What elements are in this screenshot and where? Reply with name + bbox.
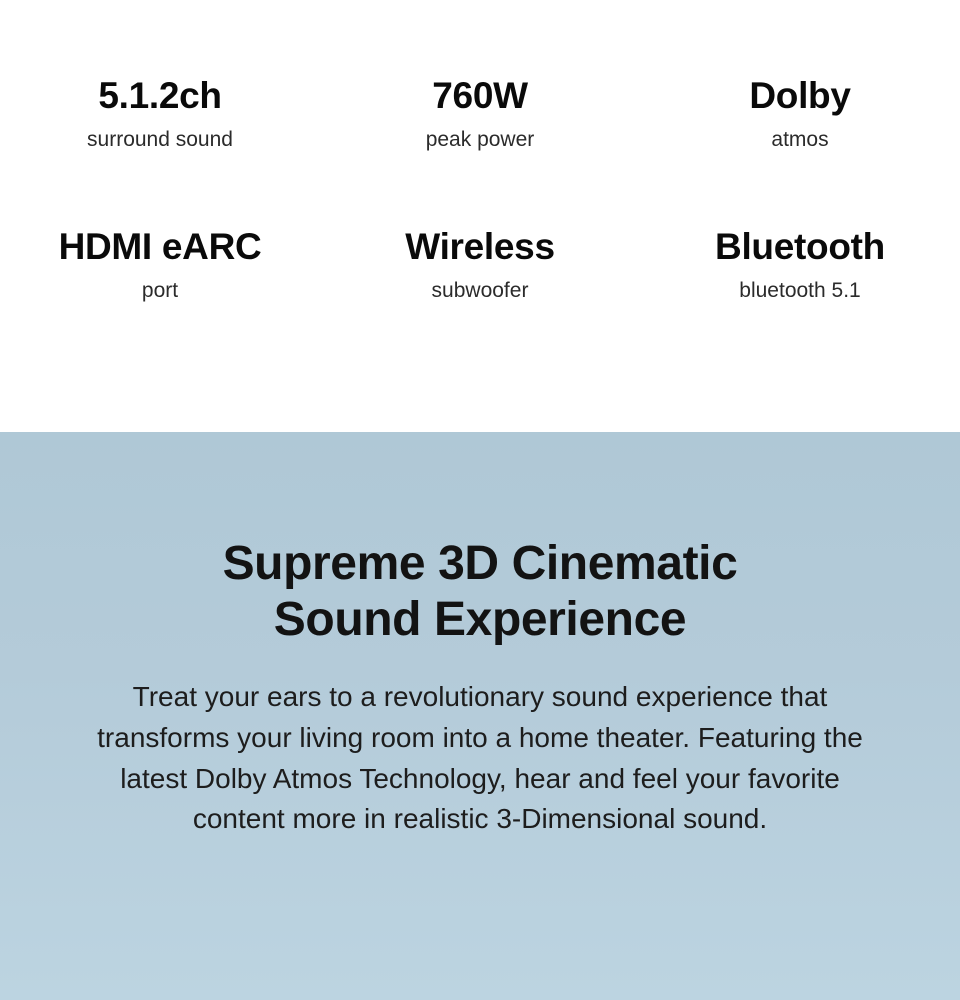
- specs-row-1: 5.1.2ch surround sound 760W peak power D…: [0, 74, 960, 152]
- spec-value: Wireless: [324, 225, 636, 269]
- product-feature-page: 5.1.2ch surround sound 760W peak power D…: [0, 0, 960, 1000]
- spec-value: 760W: [324, 74, 636, 118]
- spec-item-dolby-atmos: Dolby atmos: [640, 74, 960, 152]
- spec-label: bluetooth 5.1: [644, 278, 956, 303]
- spec-value: Dolby: [644, 74, 956, 118]
- spec-item-peak-power: 760W peak power: [320, 74, 640, 152]
- spec-item-hdmi-earc: HDMI eARC port: [0, 225, 320, 303]
- hero-title: Supreme 3D Cinematic Sound Experience: [95, 536, 865, 647]
- spec-value: HDMI eARC: [4, 225, 316, 269]
- spec-item-wireless-subwoofer: Wireless subwoofer: [320, 225, 640, 303]
- spec-item-bluetooth: Bluetooth bluetooth 5.1: [640, 225, 960, 303]
- hero-section: Supreme 3D Cinematic Sound Experience Tr…: [0, 432, 960, 1000]
- spec-label: atmos: [644, 127, 956, 152]
- spec-value: 5.1.2ch: [4, 74, 316, 118]
- hero-paragraph: Treat your ears to a revolutionary sound…: [80, 677, 880, 839]
- spec-label: peak power: [324, 127, 636, 152]
- hero-title-line-1: Supreme 3D Cinematic: [223, 537, 738, 590]
- spec-item-surround-sound: 5.1.2ch surround sound: [0, 74, 320, 152]
- spec-label: subwoofer: [324, 278, 636, 303]
- spec-label: surround sound: [4, 127, 316, 152]
- specs-section: 5.1.2ch surround sound 760W peak power D…: [0, 0, 960, 432]
- spec-value: Bluetooth: [644, 225, 956, 269]
- specs-row-2: HDMI eARC port Wireless subwoofer Blueto…: [0, 225, 960, 303]
- spec-label: port: [4, 278, 316, 303]
- hero-title-line-2: Sound Experience: [274, 593, 686, 646]
